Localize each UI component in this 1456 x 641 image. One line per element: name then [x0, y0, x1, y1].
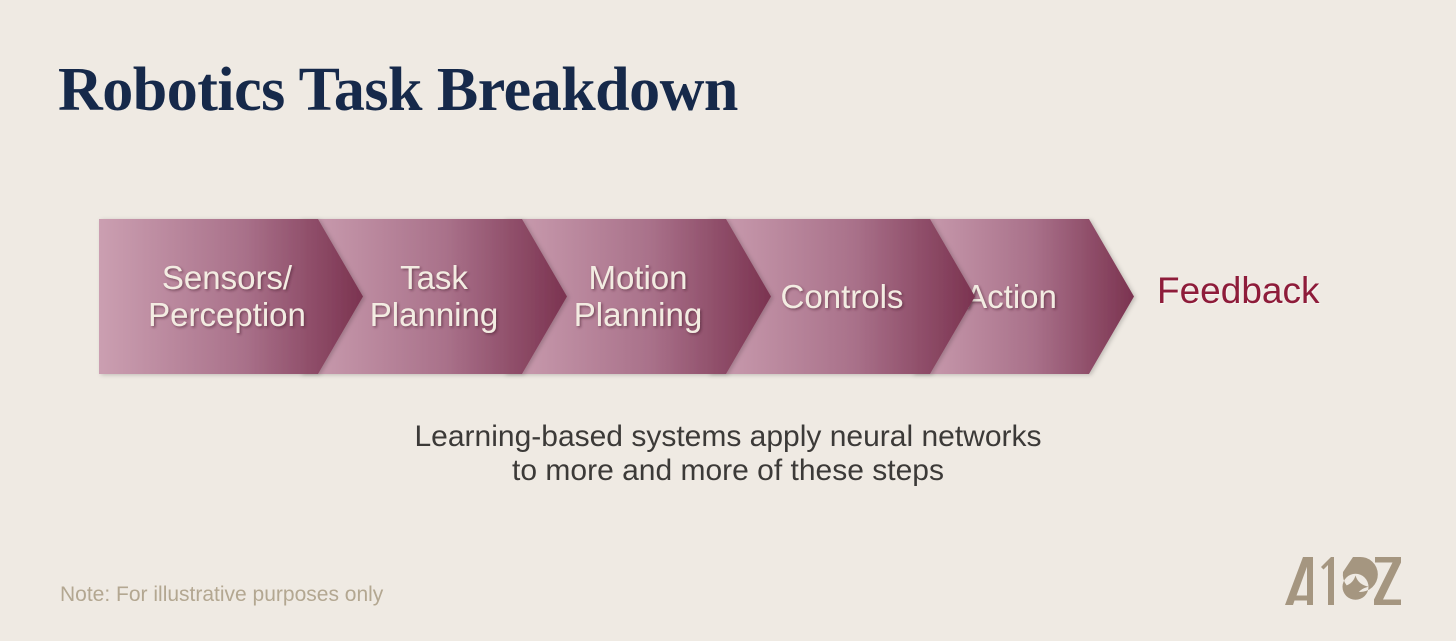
pipeline-step-label: Action	[965, 278, 1057, 315]
feedback-label: Feedback	[1157, 270, 1320, 312]
pipeline-step-label: Task	[400, 259, 468, 296]
caption-line-1: Learning-based systems apply neural netw…	[0, 420, 1456, 454]
pipeline-flow: Action Controls Motion Planning Task Pla…	[99, 219, 1134, 374]
footnote: Note: For illustrative purposes only	[60, 583, 383, 607]
pipeline-step-sensors-perception[interactable]: Sensors/ Perception	[99, 219, 363, 374]
pipeline-step-label-2: Planning	[370, 296, 498, 333]
pipeline-step-label-2: Planning	[574, 296, 702, 333]
slide-canvas: Robotics Task Breakdown Action	[0, 0, 1456, 641]
pipeline-step-label: Sensors/	[162, 259, 293, 296]
pipeline-step-label-2: Perception	[148, 296, 306, 333]
a16z-logo-mark	[1285, 557, 1401, 605]
page-title: Robotics Task Breakdown	[58, 58, 738, 123]
a16z-logo	[1283, 553, 1403, 609]
pipeline-step-label: Motion	[588, 259, 687, 296]
pipeline-step-label: Controls	[781, 278, 904, 315]
caption: Learning-based systems apply neural netw…	[0, 420, 1456, 488]
caption-line-2: to more and more of these steps	[0, 454, 1456, 488]
